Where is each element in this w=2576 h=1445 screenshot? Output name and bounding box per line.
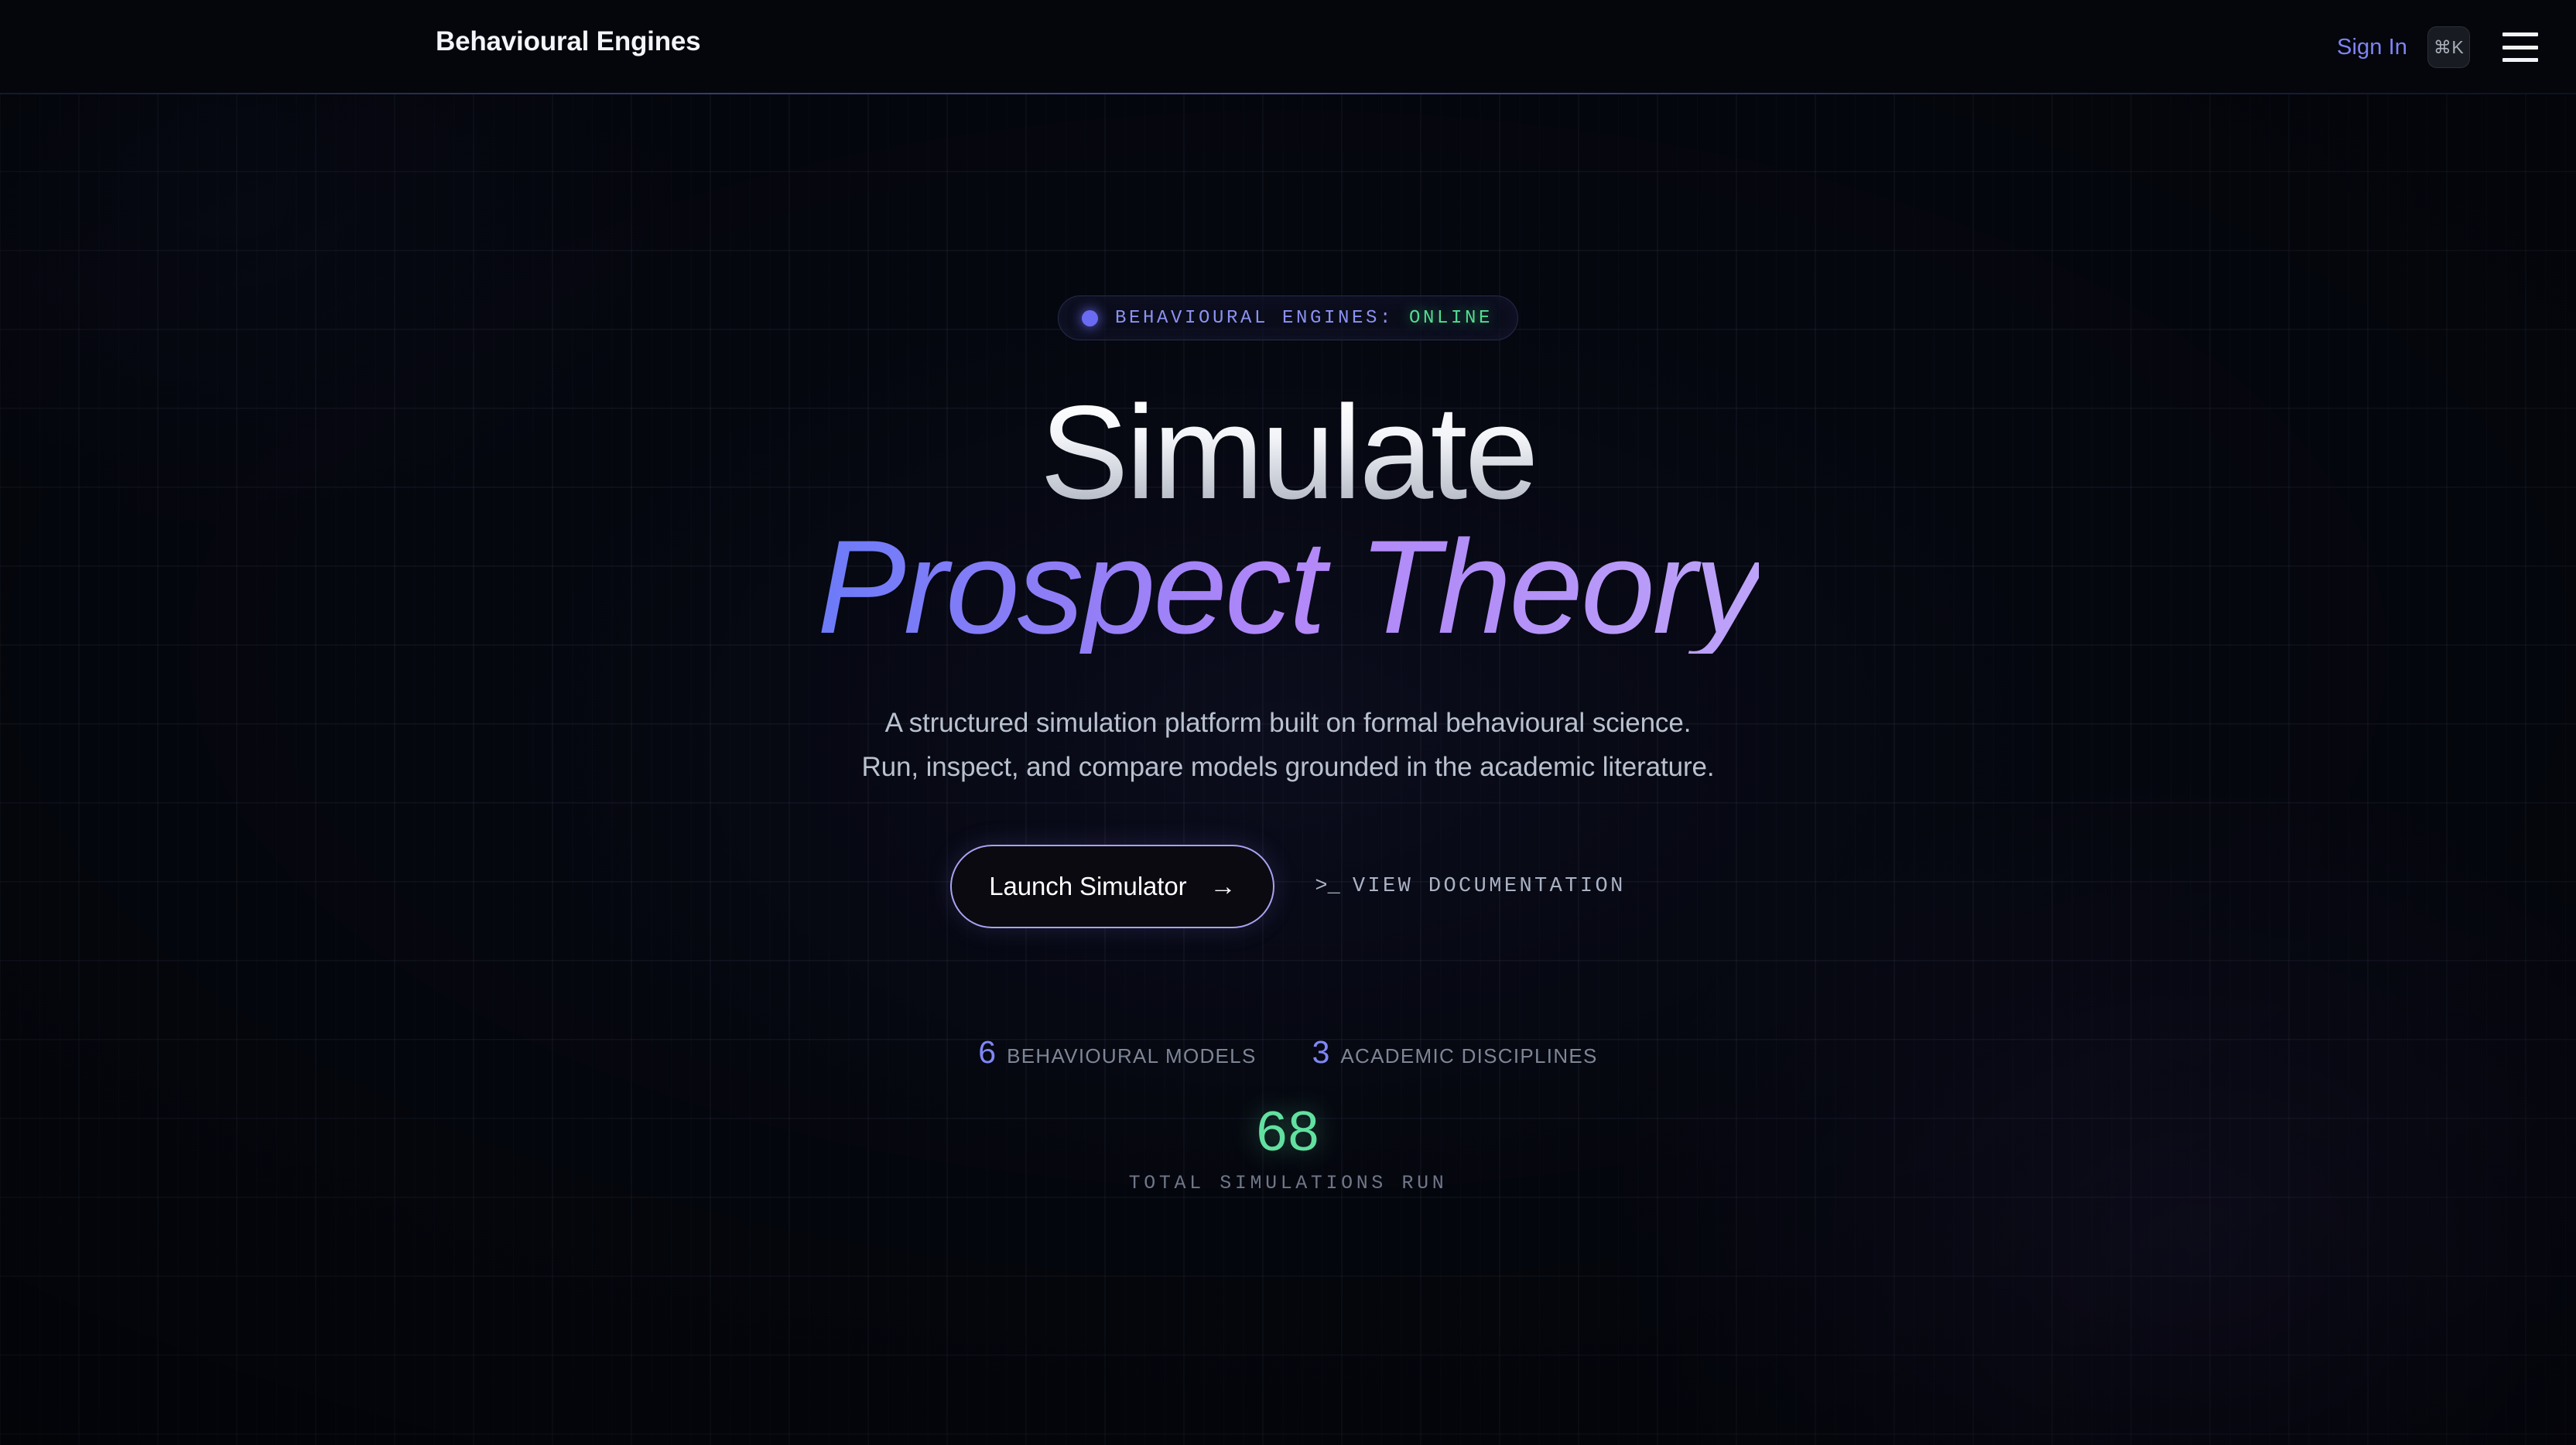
stat-total-simulations: 68 TOTAL SIMULATIONS RUN — [1129, 1104, 1448, 1194]
header-bottom-rule — [0, 93, 2576, 94]
stat-value: 6 — [978, 1037, 996, 1068]
launch-simulator-label: Launch Simulator — [989, 872, 1186, 901]
terminal-prompt-icon: >_ — [1315, 875, 1339, 898]
hero-subtitle-line-1: A structured simulation platform built o… — [861, 702, 1714, 746]
view-documentation-link[interactable]: >_ VIEW DOCUMENTATION — [1305, 875, 1625, 898]
stat-value: 3 — [1312, 1037, 1330, 1068]
landing-page: Behavioural Engines Sign In ⌘K BEHAVIOUR… — [0, 0, 2576, 1445]
brand-logo[interactable]: Behavioural Engines — [436, 26, 700, 57]
hero-subtitle-line-2: Run, inspect, and compare models grounde… — [861, 746, 1714, 790]
hero-section: BEHAVIOURAL ENGINES: ONLINE Simulate Pro… — [0, 94, 2576, 1445]
status-dot-icon — [1082, 310, 1098, 326]
stat-label: BEHAVIOURAL MODELS — [1007, 1044, 1256, 1068]
launch-simulator-button[interactable]: Launch Simulator → — [950, 845, 1274, 928]
sign-in-link[interactable]: Sign In — [2337, 35, 2407, 60]
hamburger-bar-3 — [2502, 58, 2538, 62]
status-badge-prefix: BEHAVIOURAL ENGINES: — [1115, 308, 1394, 329]
stat-total-value: 68 — [1256, 1104, 1319, 1160]
hamburger-bar-1 — [2502, 32, 2538, 36]
status-badge-value: ONLINE — [1409, 308, 1493, 329]
stat-total-label: TOTAL SIMULATIONS RUN — [1129, 1172, 1448, 1194]
headline-primary: Simulate — [1040, 388, 1536, 518]
hamburger-bar-2 — [2502, 46, 2538, 50]
view-documentation-label: VIEW DOCUMENTATION — [1353, 875, 1626, 898]
stat-academic-disciplines: 3 ACADEMIC DISCIPLINES — [1312, 1037, 1598, 1068]
headline-secondary: Prospect Theory — [817, 521, 1759, 654]
hero-subtitle: A structured simulation platform built o… — [861, 702, 1714, 789]
stats-row: 6 BEHAVIOURAL MODELS 3 ACADEMIC DISCIPLI… — [978, 1037, 1597, 1068]
stat-label: ACADEMIC DISCIPLINES — [1340, 1044, 1597, 1068]
stat-behavioural-models: 6 BEHAVIOURAL MODELS — [978, 1037, 1256, 1068]
header-actions: Sign In ⌘K — [2337, 0, 2538, 94]
hamburger-menu-icon[interactable] — [2502, 32, 2538, 62]
command-k-badge[interactable]: ⌘K — [2427, 26, 2470, 68]
site-header: Behavioural Engines Sign In ⌘K — [0, 0, 2576, 94]
arrow-right-icon: → — [1210, 873, 1237, 900]
status-badge: BEHAVIOURAL ENGINES: ONLINE — [1058, 295, 1518, 340]
cta-row: Launch Simulator → >_ VIEW DOCUMENTATION — [950, 845, 1625, 928]
